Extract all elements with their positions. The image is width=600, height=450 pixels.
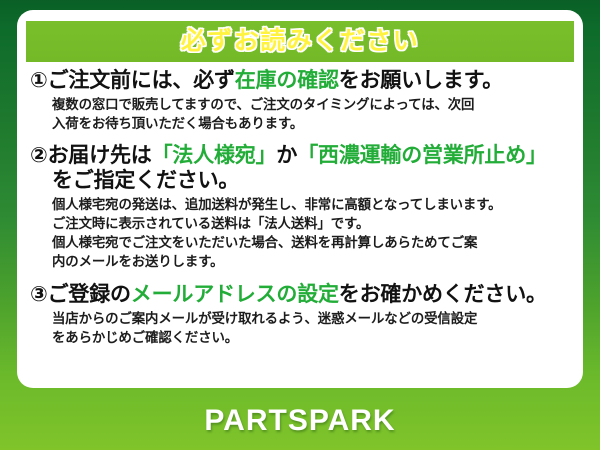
header-band: 必ずお読みください	[26, 21, 574, 62]
notice-section-1: ①ご注文前には、必ず在庫の確認をお願いします。 複数の窓口で販売してますので、ご…	[30, 68, 574, 133]
section-2-body-line-1: 個人様宅宛の発送は、追加送料が発生し、非常に高額となってしまいます。	[52, 195, 574, 214]
section-3-body: 当店からのご案内メールが受け取れるよう、迷惑メールなどの受信設定 をあらかじめご…	[52, 309, 574, 347]
section-3-body-line-1: 当店からのご案内メールが受け取れるよう、迷惑メールなどの受信設定	[52, 309, 574, 328]
section-1-heading: ①ご注文前には、必ず在庫の確認をお願いします。	[30, 68, 574, 94]
page-title: 必ずお読みください	[181, 29, 420, 54]
section-3-heading-part-1: ご登録の	[48, 283, 131, 306]
notice-section-3: ③ご登録のメールアドレスの設定をお確かめください。 当店からのご案内メールが受け…	[30, 282, 574, 347]
section-3-marker: ③	[30, 283, 48, 306]
section-2-body: 個人様宅宛の発送は、追加送料が発生し、非常に高額となってしまいます。 ご注文時に…	[52, 195, 574, 271]
partspark-logo: PARTSPARK	[204, 406, 395, 436]
section-2-body-line-2: ご注文時に表示されている送料は「法人送料」です。	[52, 214, 574, 233]
section-1-heading-part-3: をお願いします。	[339, 69, 503, 92]
section-1-body-line-2: 入荷をお待ち頂いただく場合もあります。	[52, 114, 574, 133]
footer-bar: PARTSPARK	[0, 392, 600, 450]
section-2-heading-highlight-1: 「法人様宛」	[152, 144, 277, 167]
section-2-heading-line-2: をご指定ください。	[52, 168, 574, 194]
notice-banner: 必ずお読みください ①ご注文前には、必ず在庫の確認をお願いします。 複数の窓口で…	[0, 0, 600, 450]
white-content-panel: 必ずお読みください ①ご注文前には、必ず在庫の確認をお願いします。 複数の窓口で…	[17, 10, 583, 388]
section-3-heading-highlight: メールアドレスの設定	[131, 283, 339, 306]
section-1-heading-highlight: 在庫の確認	[235, 69, 339, 92]
section-1-heading-part-1: ご注文前には、必ず	[48, 69, 235, 92]
section-2-heading-highlight-2: 「西濃運輸の営業所止め」	[297, 144, 547, 167]
section-2-heading-part-3: か	[276, 144, 297, 167]
section-3-heading: ③ご登録のメールアドレスの設定をお確かめください。	[30, 282, 574, 308]
section-2-heading: ②お届け先は「法人様宛」か「西濃運輸の営業所止め」をご指定ください。	[30, 143, 574, 194]
section-3-body-line-2: をあらかじめご確認ください。	[52, 328, 574, 347]
section-1-marker: ①	[30, 69, 48, 92]
section-2-marker: ②	[30, 144, 48, 167]
section-1-body-line-1: 複数の窓口で販売してますので、ご注文のタイミングによっては、次回	[52, 95, 574, 114]
section-3-heading-part-3: をお確かめください。	[339, 283, 547, 306]
section-1-body: 複数の窓口で販売してますので、ご注文のタイミングによっては、次回 入荷をお待ち頂…	[52, 95, 574, 133]
notice-sections: ①ご注文前には、必ず在庫の確認をお願いします。 複数の窓口で販売してますので、ご…	[26, 68, 578, 349]
section-2-body-line-4: 内のメールをお送りします。	[52, 252, 574, 271]
section-2-heading-part-1: お届け先は	[48, 144, 152, 167]
section-2-body-line-3: 個人様宅宛でご注文をいただいた場合、送料を再計算しあらためてご案	[52, 233, 574, 252]
notice-section-2: ②お届け先は「法人様宛」か「西濃運輸の営業所止め」をご指定ください。 個人様宅宛…	[30, 143, 574, 271]
